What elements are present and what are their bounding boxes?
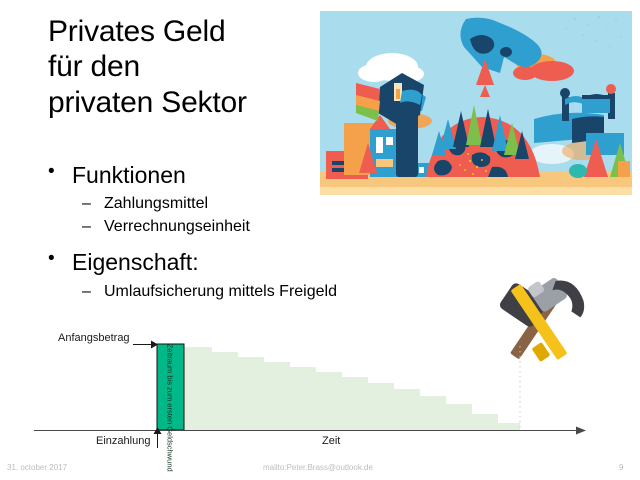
chart-x-axis-arrow [576, 427, 586, 435]
freigeld-decay-chart [0, 326, 640, 451]
title-line-1: Privates Geld [48, 14, 318, 49]
chart-label-einzahlung: Einzahlung [96, 435, 150, 447]
chart-label-anfangsbetrag: Anfangsbetrag [58, 332, 130, 344]
bullet-eigenschaft: Eigenschaft: [42, 248, 462, 276]
chart-axis-label-zeit: Zeit [322, 435, 340, 447]
title-line-2: für den [48, 49, 318, 84]
page-title: Privates Geld für den privaten Sektor [48, 14, 318, 120]
bullet-list: Funktionen Zahlungsmittel Verrechnungsei… [42, 161, 462, 303]
bullet-funktionen: Funktionen [42, 161, 462, 189]
chart-svg [0, 326, 640, 451]
footer-date: 31. october 2017 [7, 463, 67, 472]
bullet-verrechnungseinheit: Verrechnungseinheit [42, 216, 462, 239]
footer-email[interactable]: mailto:Peter.Brass@outlook.de [263, 463, 373, 472]
bullet-zahlungsmittel: Zahlungsmittel [42, 193, 462, 216]
chart-bars-decay [184, 347, 520, 430]
spacer [42, 238, 462, 248]
bullet-umlaufsicherung: Umlaufsicherung mittels Freigeld [42, 281, 462, 304]
chart-bar-anfangsbetrag [157, 344, 184, 430]
title-line-3: privaten Sektor [48, 85, 318, 120]
footer-page-number: 9 [619, 463, 623, 472]
